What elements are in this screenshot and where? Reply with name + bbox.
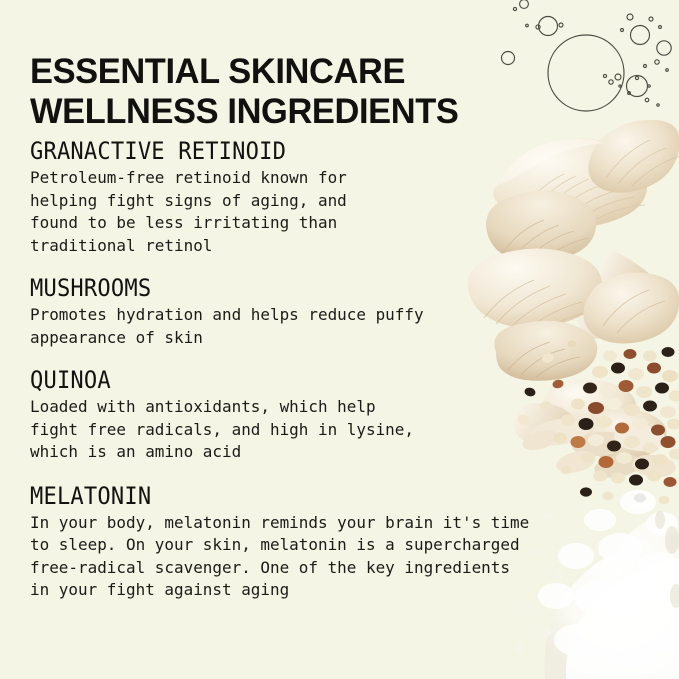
ingredient-heading-quinoa: QUINOA [30,366,610,394]
poster-text-layer: ESSENTIAL SKINCARE WELLNESS INGREDIENTS … [0,0,679,679]
ingredient-list: GRANACTIVE RETINOID Petroleum-free retin… [30,137,660,619]
ingredient-block-melatonin: MELATONIN In your body, melatonin remind… [30,482,660,602]
ingredient-block-granactive-retinoid: GRANACTIVE RETINOID Petroleum-free retin… [30,137,660,257]
ingredient-heading-granactive-retinoid: GRANACTIVE RETINOID [30,137,610,165]
ingredient-description-melatonin: In your body, melatonin reminds your bra… [30,512,651,602]
ingredient-heading-melatonin: MELATONIN [30,482,610,510]
ingredients-poster: ESSENTIAL SKINCARE WELLNESS INGREDIENTS … [0,0,679,679]
ingredient-heading-mushrooms: MUSHROOMS [30,274,610,302]
page-title: ESSENTIAL SKINCARE WELLNESS INGREDIENTS [30,51,534,131]
ingredient-description-quinoa: Loaded with antioxidants, which help fig… [30,396,651,464]
ingredient-description-granactive-retinoid: Petroleum-free retinoid known for helpin… [30,167,651,257]
ingredient-description-mushrooms: Promotes hydration and helps reduce puff… [30,304,651,349]
ingredient-block-mushrooms: MUSHROOMS Promotes hydration and helps r… [30,274,660,349]
ingredient-block-quinoa: QUINOA Loaded with antioxidants, which h… [30,366,660,464]
